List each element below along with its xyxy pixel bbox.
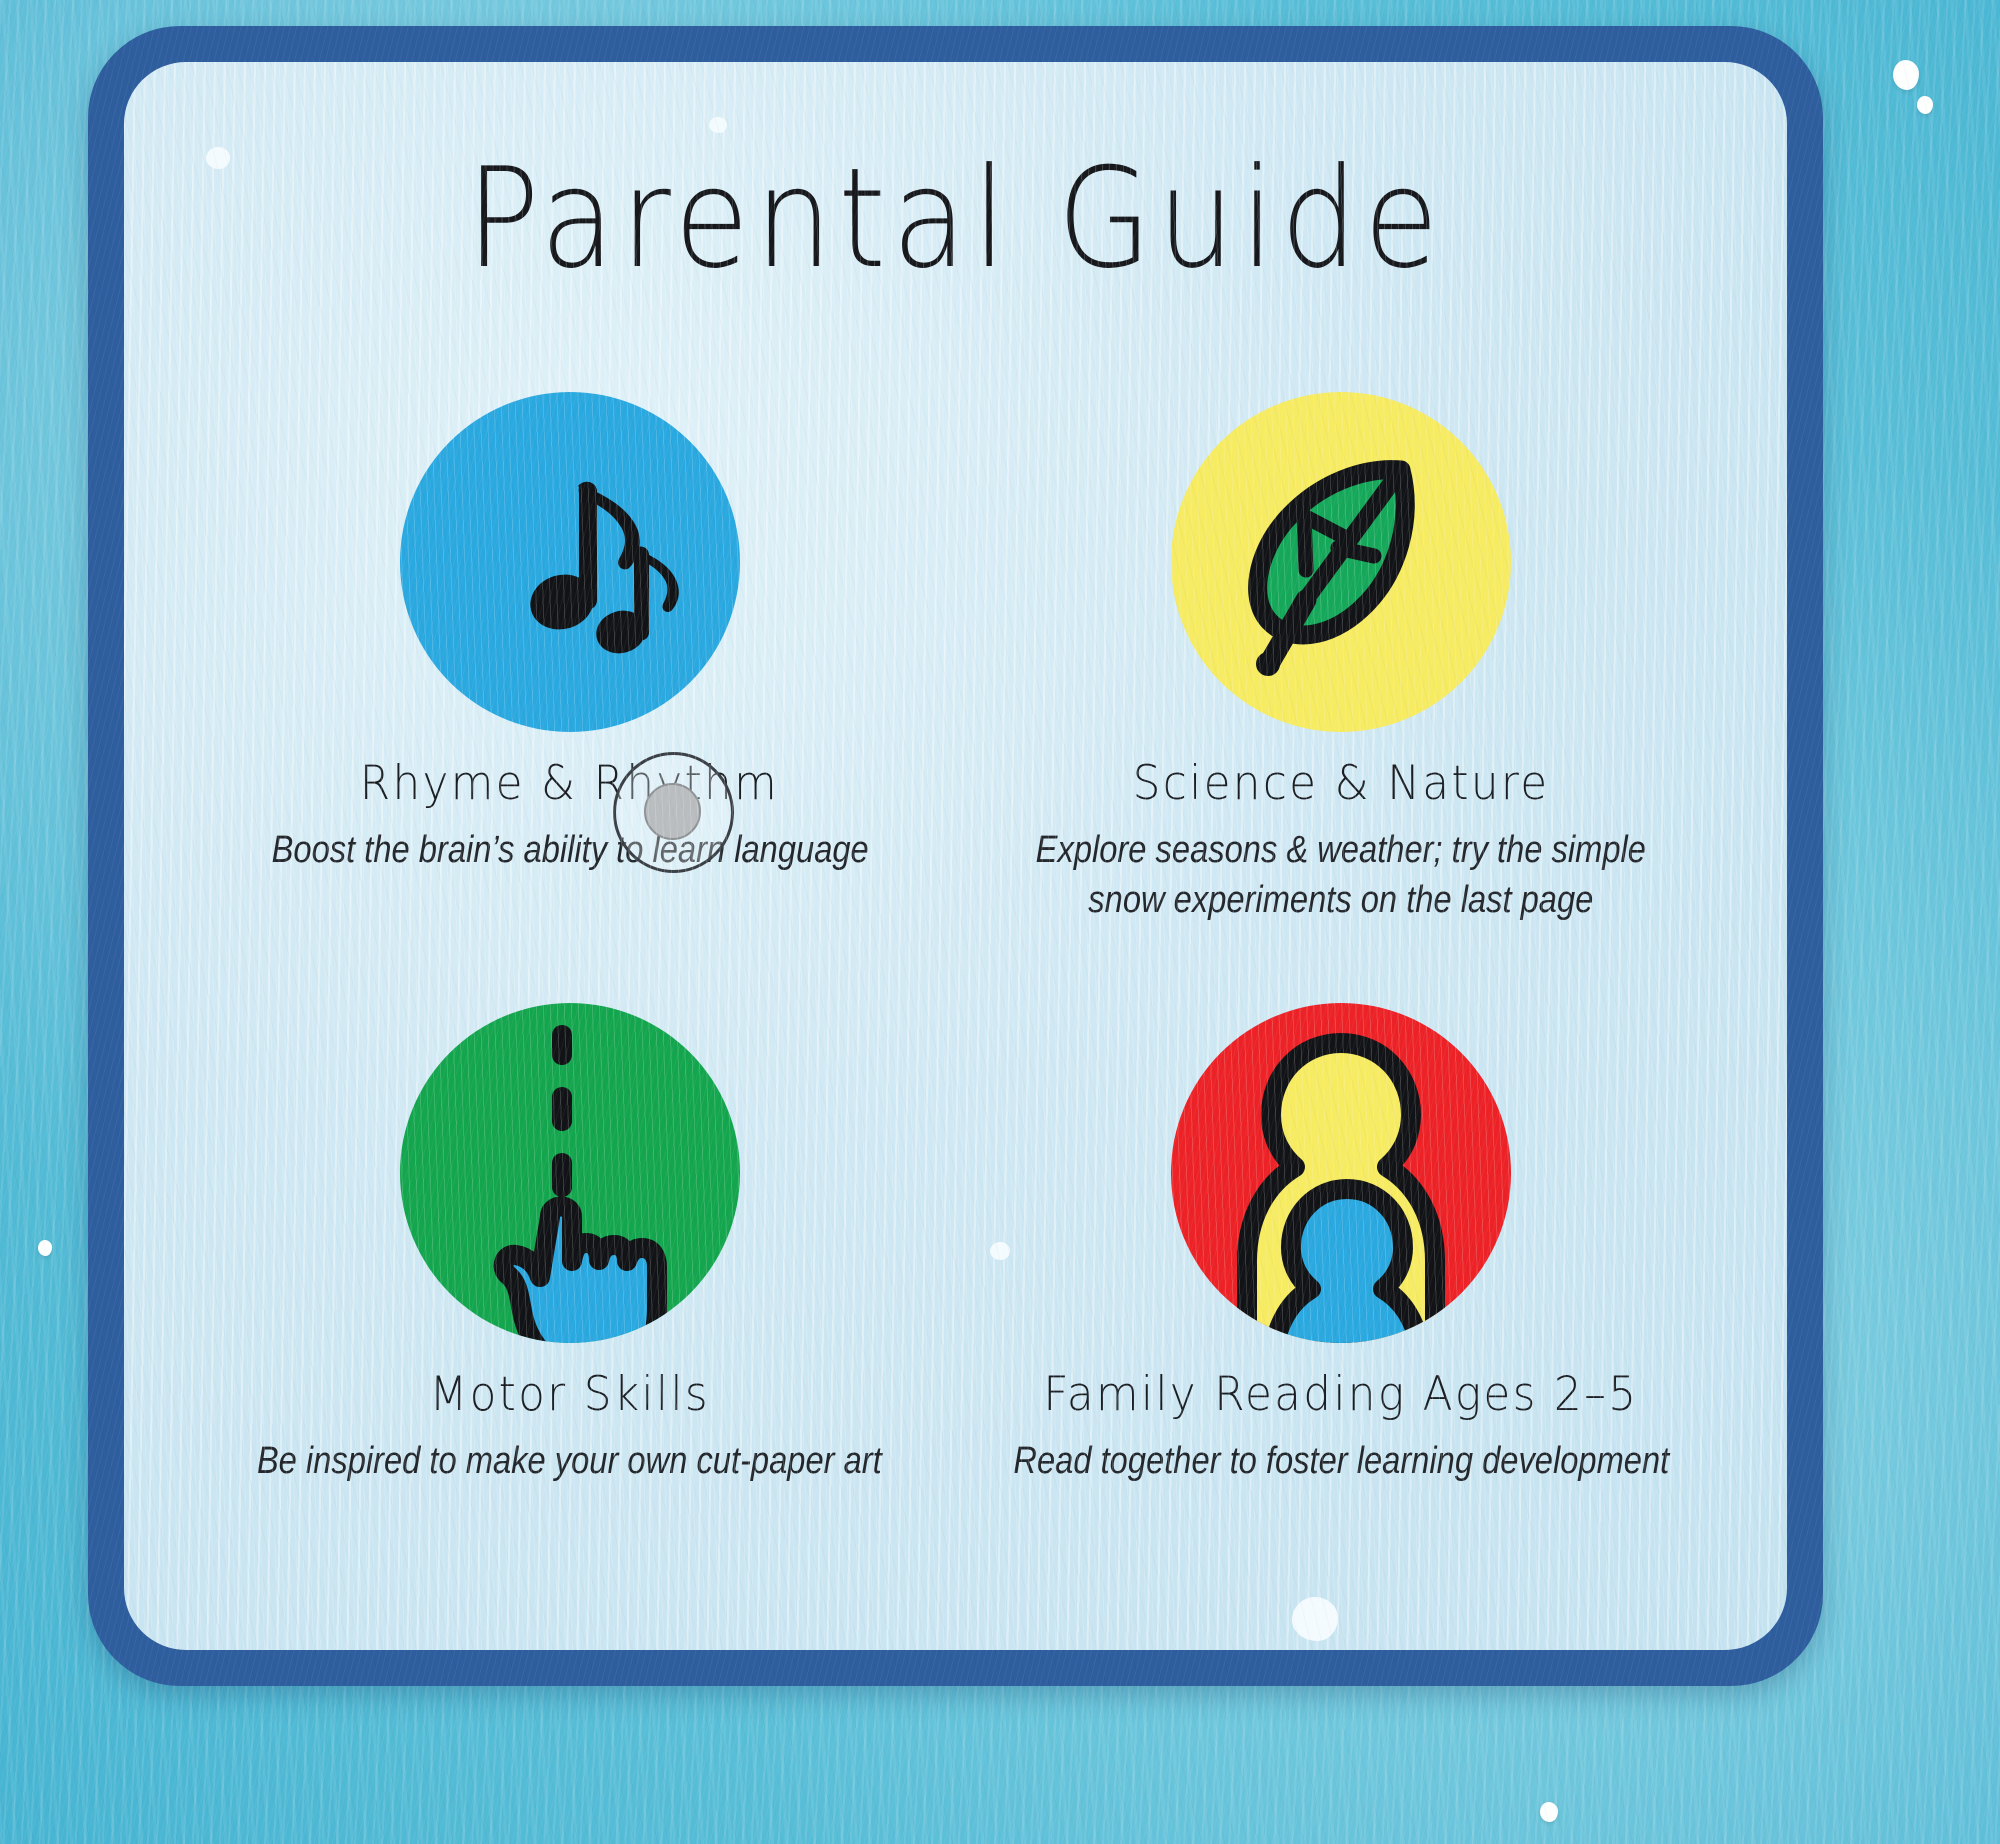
icon-disc-motor-skills xyxy=(400,1003,740,1343)
poster-panel: Parental Guide xyxy=(124,62,1787,1650)
pointing-hand-icon xyxy=(400,1003,740,1343)
snow-fleck xyxy=(1292,1597,1338,1641)
snow-fleck xyxy=(1917,96,1933,114)
icon-disc-family-reading xyxy=(1171,1003,1511,1343)
music-note-icon xyxy=(450,442,690,682)
poster-frame: Parental Guide xyxy=(88,26,1823,1686)
adult-and-child-icon xyxy=(1171,1003,1511,1343)
snow-fleck xyxy=(1893,60,1919,90)
click-target-dot-icon[interactable] xyxy=(644,783,701,840)
leaf-icon xyxy=(1226,442,1456,682)
icon-disc-rhyme-rhythm xyxy=(400,392,740,732)
snow-fleck xyxy=(709,117,727,133)
guide-item-title: Science & Nature xyxy=(1133,756,1550,811)
guide-item-family-reading[interactable]: Family Reading Ages 2–5 Read together to… xyxy=(956,1003,1728,1486)
guide-item-motor-skills[interactable]: Motor Skills Be inspired to make your ow… xyxy=(184,1003,956,1486)
page-title: Parental Guide xyxy=(224,150,1687,288)
guide-item-title: Family Reading Ages 2–5 xyxy=(1044,1367,1639,1422)
guide-item-description: Be inspired to make your own cut-paper a… xyxy=(257,1436,882,1486)
guide-item-science-nature[interactable]: Science & Nature Explore seasons & weath… xyxy=(956,392,1728,925)
guide-grid: Rhyme & Rhythm Boost the brain’s ability… xyxy=(184,392,1727,1486)
guide-item-description: Read together to foster learning develop… xyxy=(1013,1436,1669,1486)
guide-item-description: Explore seasons & weather; try the simpl… xyxy=(1036,825,1646,925)
snow-fleck xyxy=(1540,1802,1558,1822)
guide-item-rhyme-rhythm[interactable]: Rhyme & Rhythm Boost the brain’s ability… xyxy=(184,392,956,925)
guide-item-description: Boost the brain’s ability to learn langu… xyxy=(271,825,868,875)
poster-canvas: Parental Guide xyxy=(0,0,2000,1844)
guide-item-title: Motor Skills xyxy=(430,1367,710,1422)
icon-disc-science-nature xyxy=(1171,392,1511,732)
snow-fleck xyxy=(38,1240,52,1256)
